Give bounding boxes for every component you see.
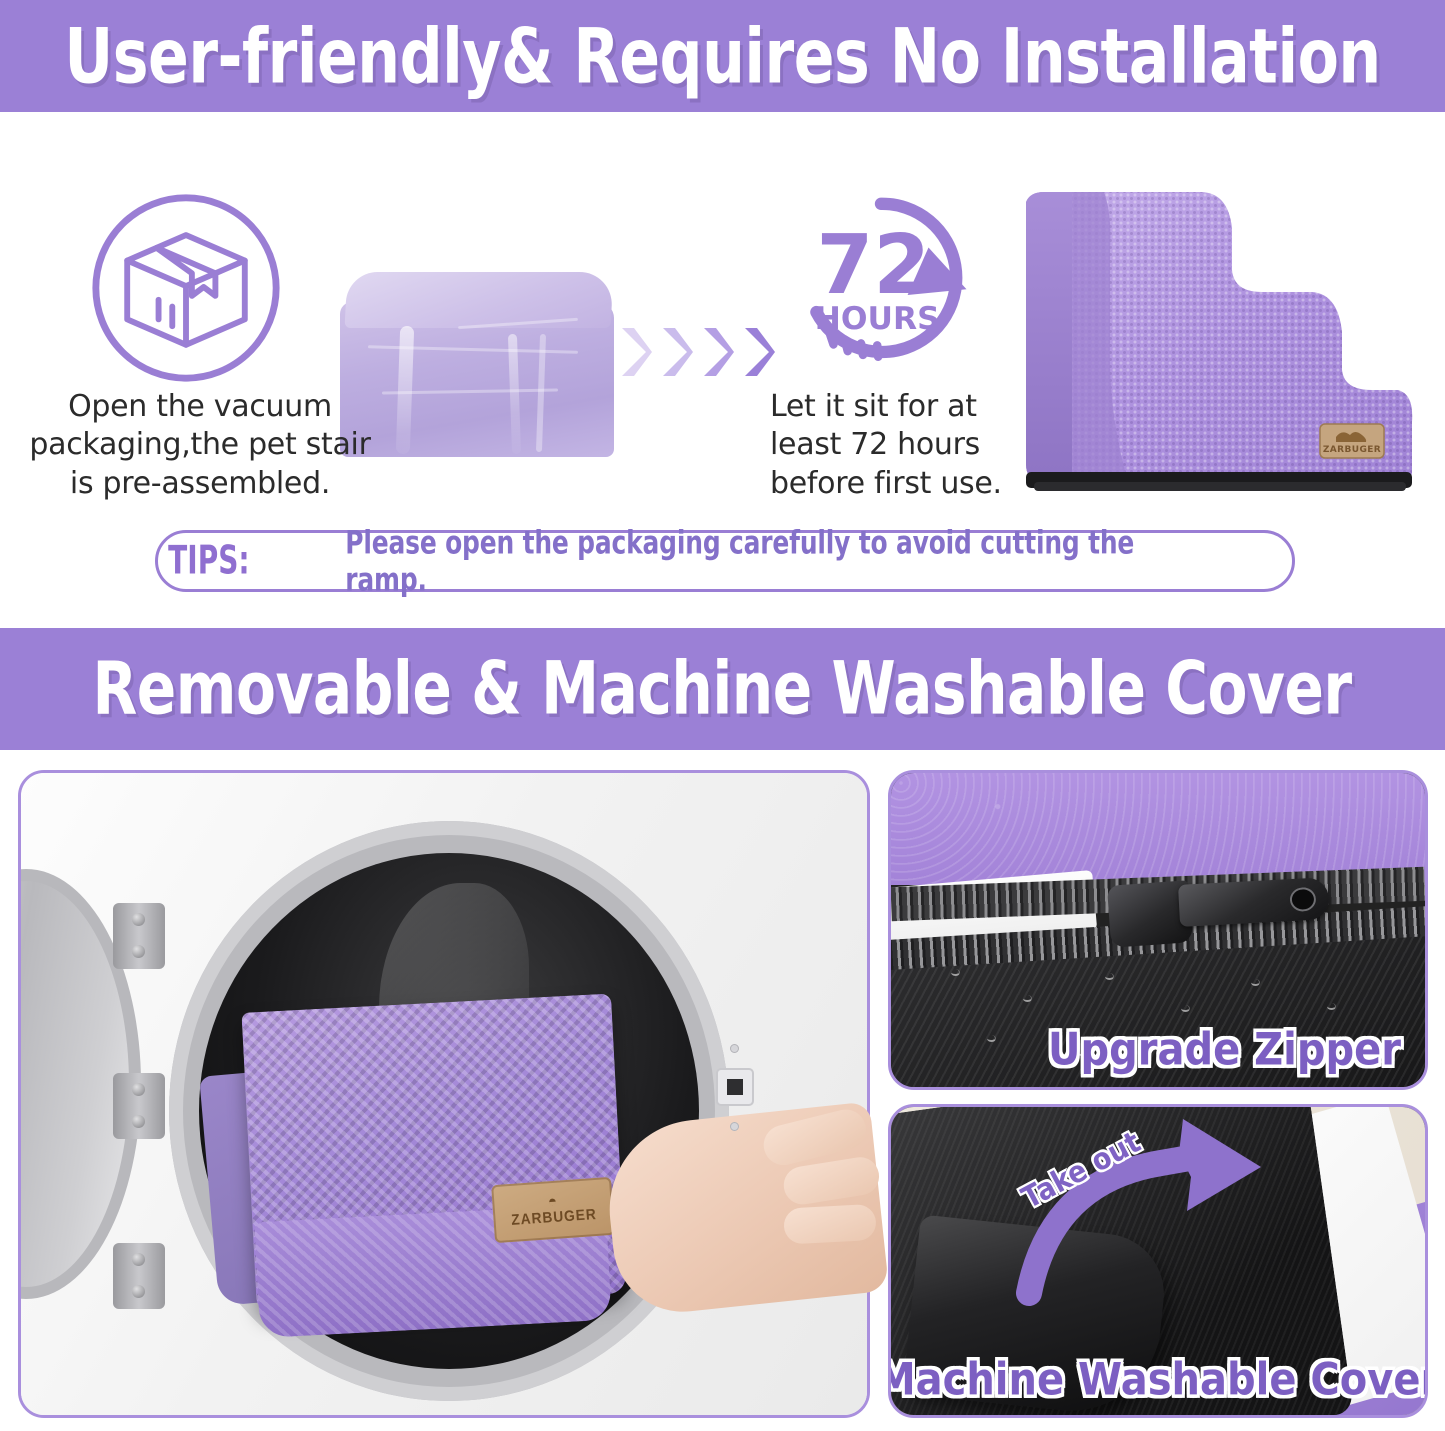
72-hours-icon: 72 HOURS (786, 190, 976, 362)
top-banner: User-friendly& Requires No Installation (0, 0, 1445, 112)
tips-label: TIPS: (168, 539, 249, 584)
chevron-right-icon (700, 324, 736, 380)
dog-logo-icon: ◓ (547, 1194, 557, 1210)
tips-text: Please open the packaging carefully to a… (345, 524, 1221, 599)
top-banner-title: User-friendly& Requires No Installation (64, 11, 1380, 100)
hours-number: 72 (817, 218, 931, 313)
upgrade-zipper-panel: Upgrade Zipper (888, 770, 1428, 1090)
brand-name: ZARBUGER (510, 1206, 597, 1229)
chevron-right-icon (618, 324, 654, 380)
tips-banner: TIPS: Please open the packaging carefull… (155, 530, 1295, 592)
cover-caption: Machine Washable Cover (888, 1354, 1428, 1406)
washer-indicator-dot (730, 1044, 739, 1053)
step-left-caption: Open the vacuum packaging,the pet stair … (22, 388, 378, 503)
machine-washable-cover-panel: Take out Machine Washable Cover (888, 1104, 1428, 1418)
washer-button[interactable] (716, 1068, 754, 1106)
chevron-right-icon (741, 324, 777, 380)
package-box-icon (88, 190, 284, 386)
setup-steps-section: 72 HOURS (0, 112, 1445, 532)
brand-tag: ◓ ZARBUGER (491, 1177, 615, 1243)
step-right-caption: Let it sit for at least 72 hours before … (770, 388, 1020, 503)
pet-stairs-product-image: ZARBUGER (1000, 172, 1420, 512)
chevron-right-icon (659, 324, 695, 380)
svg-text:ZARBUGER: ZARBUGER (1323, 445, 1381, 455)
bottom-banner-title: Removable & Machine Washable Cover (93, 646, 1352, 731)
zipper-caption: Upgrade Zipper (1048, 1024, 1401, 1076)
bottom-banner: Removable & Machine Washable Cover (0, 628, 1445, 750)
zipper-pull-tab (1178, 877, 1330, 927)
take-out-arrow-icon (1011, 1115, 1311, 1325)
washer-indicator-dot (730, 1122, 739, 1131)
vacuum-packed-product-image (338, 264, 620, 459)
hours-unit: HOURS (815, 301, 940, 337)
chevron-right-icon-group (618, 324, 778, 384)
product-infographic: User-friendly& Requires No Installation (0, 0, 1445, 1431)
